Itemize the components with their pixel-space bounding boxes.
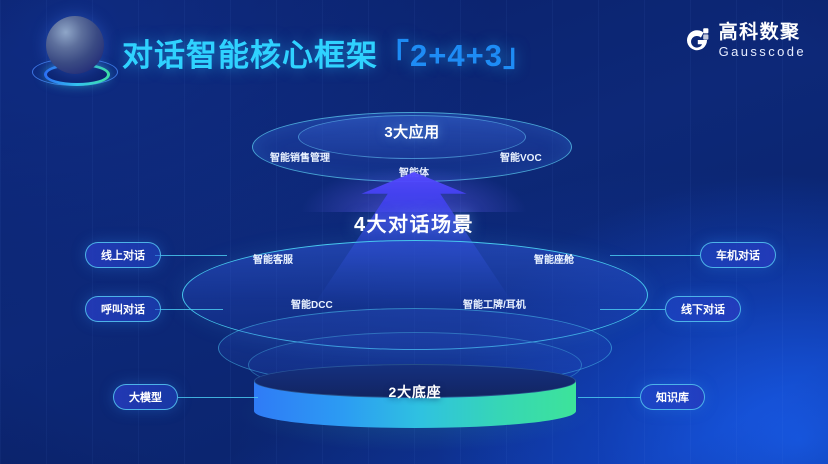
pill-call-dialogue[interactable]: 呼叫对话 <box>85 296 161 322</box>
middle-layer-label-1: 智能客服 <box>253 251 293 266</box>
page-title-bracket-open: 「 <box>378 38 410 73</box>
base-layer-cylinder: 2大底座 <box>254 364 576 426</box>
page-title-bracket-close: 」 <box>503 38 535 73</box>
middle-layer-label-2: 智能座舱 <box>534 251 574 266</box>
pill-invehicle-dialogue[interactable]: 车机对话 <box>700 242 776 268</box>
connector-line-6 <box>578 397 640 398</box>
slide-header: 对话智能核心框架「2+4+3」 高科数聚 Gausscode <box>0 0 828 100</box>
pill-knowledge-base[interactable]: 知识库 <box>640 384 705 410</box>
middle-layer-label-3: 智能DCC <box>291 296 333 311</box>
sphere-orb-icon <box>26 14 116 102</box>
pill-online-dialogue[interactable]: 线上对话 <box>85 242 161 268</box>
page-title-code: 2+4+3 <box>410 38 503 73</box>
connector-line-2 <box>155 309 223 310</box>
pill-offline-dialogue[interactable]: 线下对话 <box>665 296 741 322</box>
middle-layer-title: 4大对话场景 <box>0 208 828 237</box>
orb-sphere <box>46 16 104 74</box>
connector-line-3 <box>610 255 700 256</box>
slide-canvas: 对话智能核心框架「2+4+3」 高科数聚 Gausscode 3大应用 智能销售… <box>0 0 828 464</box>
page-title-main: 对话智能核心框架 <box>122 38 378 73</box>
base-layer-title: 2大底座 <box>254 382 576 402</box>
top-layer-label-left: 智能销售管理 <box>270 149 330 164</box>
top-layer-label-right: 智能VOC <box>500 149 542 164</box>
gausscode-g-mark-icon <box>682 25 712 55</box>
logo-text-en: Gausscode <box>719 45 806 58</box>
logo-wordmark: 高科数聚 Gausscode <box>719 23 806 58</box>
connector-line-5 <box>178 397 258 398</box>
top-layer-title: 3大应用 <box>298 121 526 142</box>
brand-logo[interactable]: 高科数聚 Gausscode <box>682 18 806 62</box>
page-title: 对话智能核心框架「2+4+3」 <box>122 30 535 75</box>
framework-diagram: 3大应用 智能销售管理 智能VOC 智能体 4大对话场景 智能客服 智能座舱 智… <box>0 96 828 464</box>
connector-line-1 <box>155 255 227 256</box>
connector-line-4 <box>600 309 665 310</box>
logo-text-cn: 高科数聚 <box>719 23 806 42</box>
pill-large-model[interactable]: 大模型 <box>113 384 178 410</box>
